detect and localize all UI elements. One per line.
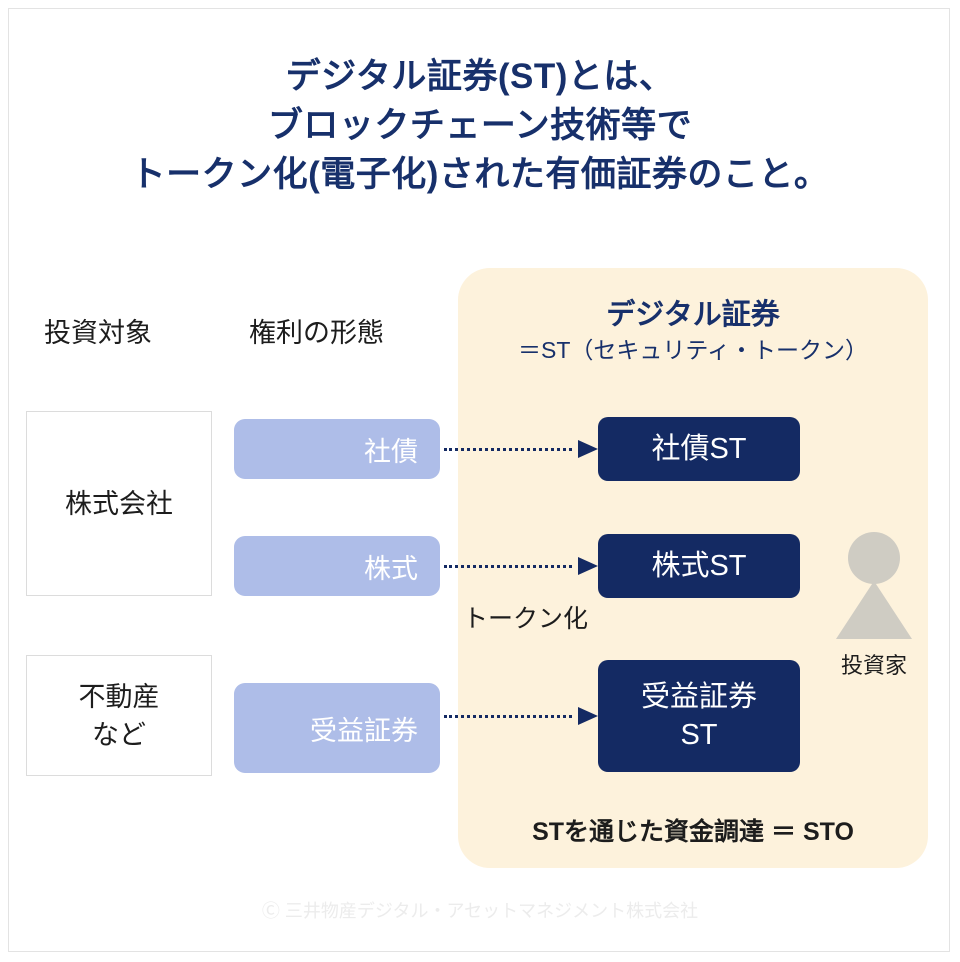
asset-box-label: 不動産 など <box>79 678 160 754</box>
rights-pill-corporate-bond: 社債 <box>234 419 440 479</box>
dotted-arrow-right-icon <box>444 707 598 725</box>
investor-figure: 投資家 <box>828 532 920 680</box>
st-box-beneficiary-certificate: 受益証券 ST <box>598 660 800 772</box>
copyright-footer: Ⓒ 三井物産デジタル・アセットマネジメント株式会社 <box>0 897 960 923</box>
panel-heading-main: デジタル証券 <box>458 296 928 334</box>
rights-pill-label: 社債 <box>364 430 418 469</box>
title-line-3: トークン化(電子化)された有価証券のこと。 <box>0 150 960 199</box>
st-box-label-line1: 受益証券 <box>641 678 757 716</box>
column-header-investment-target: 投資対象 <box>44 311 152 350</box>
sto-caption: STを通じた資金調達 ＝ STO <box>458 812 928 848</box>
person-body-triangle-icon <box>836 581 912 639</box>
rights-pill-beneficiary-certificate: 受益証券 <box>234 683 440 773</box>
asset-box-corporation: 株式会社 <box>26 411 212 596</box>
st-box-label-line1: 社債ST <box>651 430 746 468</box>
arrow-dotted-line <box>444 448 572 451</box>
st-box-corporate-bond: 社債ST <box>598 417 800 481</box>
arrow-dotted-line <box>444 715 572 718</box>
dotted-arrow-right-icon <box>444 557 598 575</box>
tokenization-label: トークン化 <box>463 599 588 635</box>
arrow-head-icon <box>578 707 598 725</box>
page-title: デジタル証券(ST)とは、 ブロックチェーン技術等で トークン化(電子化)された… <box>0 52 960 199</box>
st-box-label-line2: ST <box>680 716 717 754</box>
dotted-arrow-right-icon <box>444 440 598 458</box>
investor-label: 投資家 <box>828 648 920 680</box>
asset-box-real-estate: 不動産 など <box>26 655 212 776</box>
title-line-2: ブロックチェーン技術等で <box>0 101 960 150</box>
rights-pill-stock: 株式 <box>234 536 440 596</box>
panel-heading-sub: ＝ST（セキュリティ・トークン） <box>458 334 928 366</box>
arrow-head-icon <box>578 440 598 458</box>
arrow-head-icon <box>578 557 598 575</box>
panel-heading: デジタル証券 ＝ST（セキュリティ・トークン） <box>458 296 928 366</box>
rights-pill-label: 株式 <box>364 547 418 586</box>
title-line-1: デジタル証券(ST)とは、 <box>0 52 960 101</box>
column-header-rights-form: 権利の形態 <box>249 311 384 350</box>
arrow-dotted-line <box>444 565 572 568</box>
asset-box-label: 株式会社 <box>65 485 173 523</box>
infographic-page: デジタル証券(ST)とは、 ブロックチェーン技術等で トークン化(電子化)された… <box>0 0 960 962</box>
st-box-label-line1: 株式ST <box>651 547 746 585</box>
person-head-circle-icon <box>848 532 900 584</box>
rights-pill-label: 受益証券 <box>310 709 418 748</box>
st-box-stock: 株式ST <box>598 534 800 598</box>
